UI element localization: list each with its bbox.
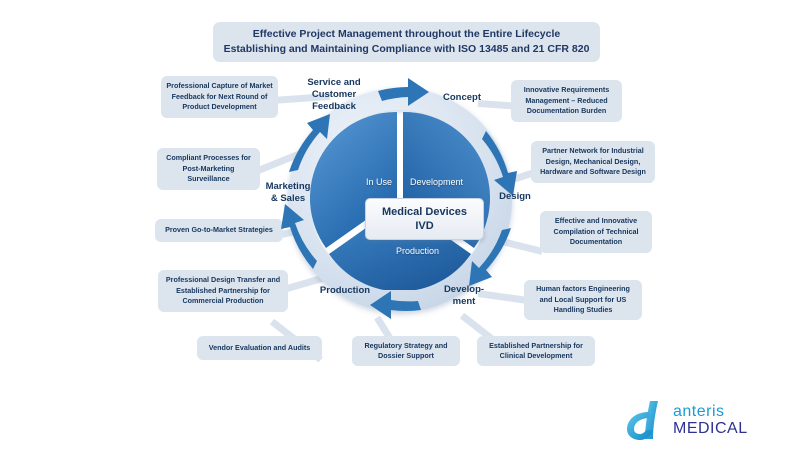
callout-professional-capture-of-market-feedback[interactable]: Professional Capture of Market Feedback … (161, 76, 278, 118)
core-line-2: IVD (415, 219, 433, 233)
segment-label-production: Production (396, 246, 439, 256)
lifecycle-wheel: In Use Development Production Medical De… (288, 88, 512, 312)
diagram-canvas: Effective Project Management throughout … (0, 0, 800, 450)
callout-text: Partner Network for Industrial Design, M… (536, 146, 650, 178)
callout-regulatory-strategy-and-dossier-support[interactable]: Regulatory Strategy and Dossier Support (352, 336, 460, 366)
callout-text: Human factors Engineering and Local Supp… (529, 284, 637, 316)
anteris-a-mark-icon (625, 398, 671, 442)
wheel-core-label: Medical Devices IVD (365, 198, 484, 240)
logo-wordmark: anteris MEDICAL (673, 403, 748, 437)
callout-text: Professional Design Transfer and Establi… (163, 275, 283, 307)
wheel-segments: In Use Development Production Medical De… (310, 110, 490, 290)
segment-label-development: Development (410, 177, 463, 187)
callout-established-partnership-clinical-development[interactable]: Established Partnership for Clinical Dev… (477, 336, 595, 366)
callout-text: Vendor Evaluation and Audits (209, 343, 311, 354)
stage-label-concept: Concept (432, 92, 492, 104)
stage-label-production: Production (312, 285, 378, 297)
logo-name-secondary: MEDICAL (673, 420, 748, 437)
callout-compliant-processes-post-marketing-surveillance[interactable]: Compliant Processes for Post-Marketing S… (157, 148, 260, 190)
callout-vendor-evaluation-and-audits[interactable]: Vendor Evaluation and Audits (197, 336, 322, 360)
segment-label-in-use: In Use (366, 177, 392, 187)
callout-partner-network-for-industrial-design[interactable]: Partner Network for Industrial Design, M… (531, 141, 655, 183)
stage-label-service-and-customer-feedback: Service and Customer Feedback (297, 77, 371, 113)
callout-proven-go-to-market-strategies[interactable]: Proven Go-to-Market Strategies (155, 219, 283, 242)
stage-label-marketing-and-sales: Marketing & Sales (259, 181, 317, 205)
page-title: Effective Project Management throughout … (213, 22, 600, 62)
callout-text: Compliant Processes for Post-Marketing S… (162, 153, 255, 185)
stage-label-design: Design (490, 191, 540, 203)
callout-text: Innovative Requirements Management – Red… (516, 85, 617, 117)
title-line-1: Effective Project Management throughout … (253, 27, 560, 42)
core-line-1: Medical Devices (382, 205, 467, 219)
callout-text: Regulatory Strategy and Dossier Support (357, 341, 455, 362)
logo-name-primary: anteris (673, 403, 748, 420)
callout-text: Proven Go-to-Market Strategies (165, 225, 273, 236)
stage-label-development: Develop- ment (435, 284, 493, 308)
callout-text: Effective and Innovative Compilation of … (545, 216, 647, 248)
callout-effective-innovative-compilation-technical-documentation[interactable]: Effective and Innovative Compilation of … (540, 211, 652, 253)
callout-human-factors-engineering[interactable]: Human factors Engineering and Local Supp… (524, 280, 642, 320)
callout-text: Professional Capture of Market Feedback … (166, 81, 273, 113)
callout-text: Established Partnership for Clinical Dev… (482, 341, 590, 362)
anteris-medical-logo: anteris MEDICAL (625, 398, 785, 442)
title-line-2: Establishing and Maintaining Compliance … (224, 42, 590, 57)
callout-professional-design-transfer[interactable]: Professional Design Transfer and Establi… (158, 270, 288, 312)
callout-innovative-requirements-management[interactable]: Innovative Requirements Management – Red… (511, 80, 622, 122)
